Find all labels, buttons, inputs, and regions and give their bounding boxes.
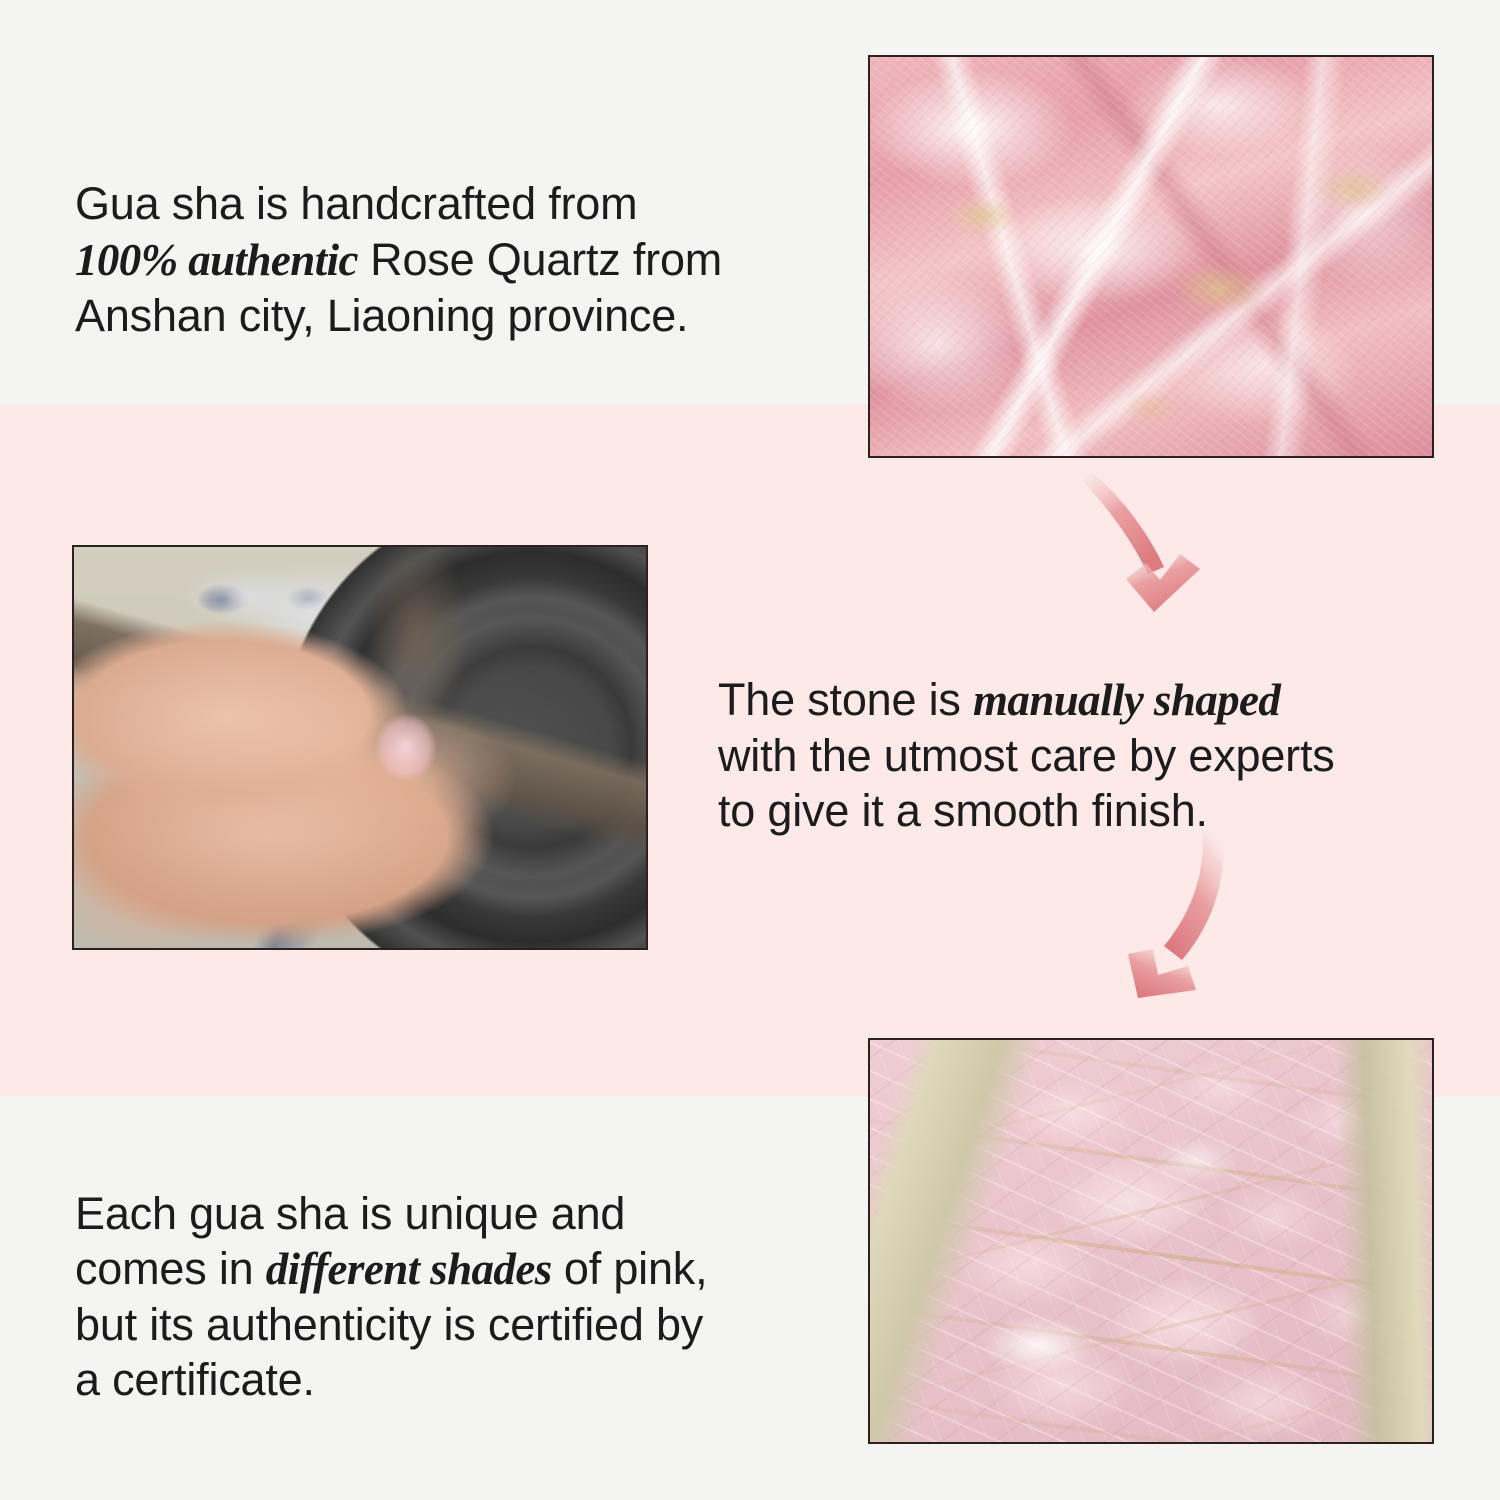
step-1-line-2: 100% authentic Rose Quartz from — [75, 232, 722, 288]
step-2-line-2: with the utmost care by experts — [718, 728, 1335, 783]
flow-arrow-step2-to-step3 — [1098, 828, 1258, 1018]
step-2-emphasis: manually shaped — [973, 675, 1280, 725]
finished-gua-sha-tray-photo — [868, 1038, 1434, 1444]
step-3-text-block: Each gua sha is unique and comes in diff… — [75, 1186, 707, 1407]
step-2-line-1-head: The stone is — [718, 674, 973, 725]
step-3-line-2-tail: of pink, — [552, 1243, 708, 1294]
infographic-canvas: Gua sha is handcrafted from 100% authent… — [0, 0, 1500, 1500]
step-1-emphasis: 100% authentic — [75, 235, 358, 285]
step-2-line-1: The stone is manually shaped — [718, 672, 1335, 728]
step-3-line-1: Each gua sha is unique and — [75, 1186, 707, 1241]
rose-quartz-macro-photo — [868, 55, 1434, 458]
step-1-line-3: Anshan city, Liaoning province. — [75, 288, 722, 344]
step-1-line-2-tail: Rose Quartz from — [358, 234, 722, 285]
step-3-line-3: but its authenticity is certified by — [75, 1297, 707, 1352]
step-2-text-block: The stone is manually shaped with the ut… — [718, 672, 1335, 838]
photo-vignette — [74, 547, 646, 948]
step-3-line-4: a certificate. — [75, 1352, 707, 1407]
step-1-text-block: Gua sha is handcrafted from 100% authent… — [75, 176, 722, 344]
flow-arrow-step1-to-step2 — [1068, 470, 1238, 645]
step-1-line-1: Gua sha is handcrafted from — [75, 176, 722, 232]
quartz-crystal-grain — [870, 57, 1432, 456]
stone-grinding-photo — [72, 545, 648, 950]
tray-right-box-edge — [870, 1040, 1432, 1442]
step-3-line-2: comes in different shades of pink, — [75, 1241, 707, 1297]
step-3-emphasis: different shades — [266, 1244, 552, 1294]
step-3-line-2-head: comes in — [75, 1243, 266, 1294]
